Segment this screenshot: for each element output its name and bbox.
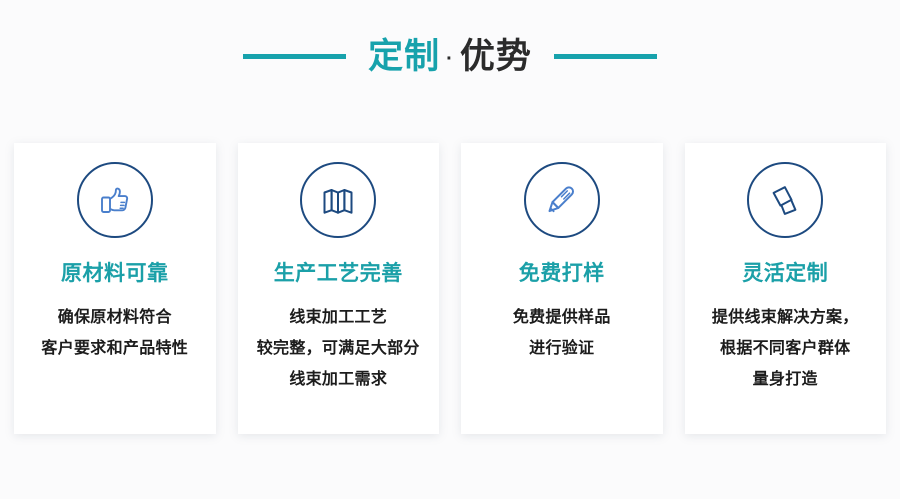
heading-rule-right	[554, 54, 657, 59]
icon-ring	[77, 162, 153, 238]
card-body-line: 确保原材料符合	[41, 302, 188, 333]
card-body: 提供线束解决方案， 根据不同客户群体 量身打造	[712, 302, 859, 395]
folded-map-icon	[319, 181, 357, 219]
card-title: 灵活定制	[742, 263, 828, 284]
card-title: 原材料可靠	[61, 263, 169, 284]
icon-ring	[524, 162, 600, 238]
stacked-cards-icon	[765, 180, 805, 220]
icon-ring	[747, 162, 823, 238]
card-body-line: 线束加工需求	[257, 364, 420, 395]
card-body-line: 根据不同客户群体	[712, 333, 859, 364]
heading-text: 定制 · 优势	[368, 39, 532, 74]
feature-card[interactable]: 生产工艺完善 线束加工工艺 较完整，可满足大部分 线束加工需求	[238, 143, 440, 434]
icon-ring	[300, 162, 376, 238]
section-heading: 定制 · 优势	[0, 28, 900, 84]
thumbs-up-icon	[96, 181, 134, 219]
card-body: 确保原材料符合 客户要求和产品特性	[41, 302, 188, 364]
card-body-line: 进行验证	[513, 333, 611, 364]
heading-accent-text: 定制	[368, 39, 440, 74]
feature-card-row: 原材料可靠 确保原材料符合 客户要求和产品特性 生产工艺完善 线束加工工艺 较完…	[14, 143, 886, 434]
card-title: 生产工艺完善	[274, 263, 403, 284]
card-body: 线束加工工艺 较完整，可满足大部分 线束加工需求	[257, 302, 420, 395]
feature-card[interactable]: 灵活定制 提供线束解决方案， 根据不同客户群体 量身打造	[685, 143, 887, 434]
card-body-line: 客户要求和产品特性	[41, 333, 188, 364]
card-title: 免费打样	[519, 263, 605, 284]
pencil-icon	[542, 180, 582, 220]
card-body-line: 免费提供样品	[513, 302, 611, 333]
card-body-line: 量身打造	[712, 364, 859, 395]
feature-card[interactable]: 原材料可靠 确保原材料符合 客户要求和产品特性	[14, 143, 216, 434]
card-body-line: 线束加工工艺	[257, 302, 420, 333]
heading-main-text: 优势	[460, 39, 532, 74]
heading-rule-left	[243, 54, 346, 59]
card-body: 免费提供样品 进行验证	[513, 302, 611, 364]
card-body-line: 提供线束解决方案，	[712, 302, 859, 333]
card-body-line: 较完整，可满足大部分	[257, 333, 420, 364]
feature-card[interactable]: 免费打样 免费提供样品 进行验证	[461, 143, 663, 434]
heading-separator-dot: ·	[440, 49, 460, 69]
